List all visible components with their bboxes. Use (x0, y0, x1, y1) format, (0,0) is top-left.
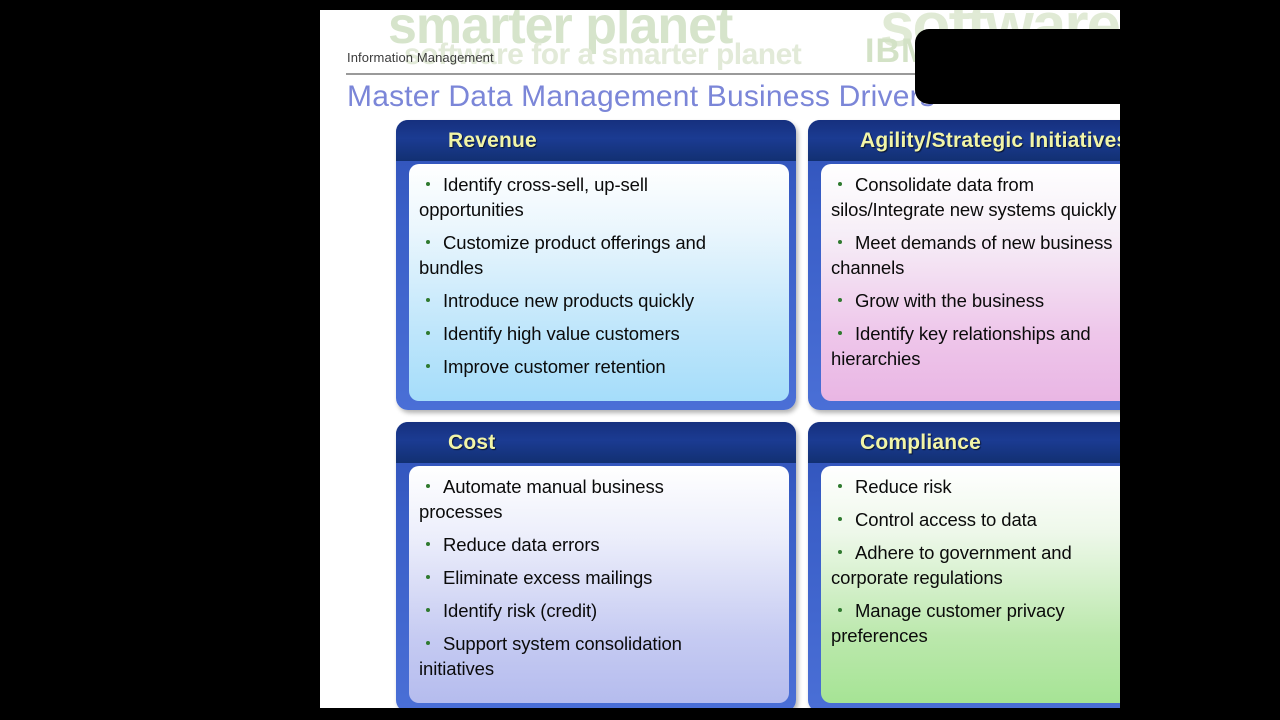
list-item: Automate manual businessprocesses (419, 474, 779, 524)
bullet-text: Identify risk (credit) (443, 600, 597, 621)
list-item: Reduce risk (831, 474, 1120, 499)
bullet-text: Identify cross-sell, up-sell (443, 174, 648, 195)
card-cost-body: Automate manual businessprocesses Reduce… (409, 466, 789, 703)
card-cost-header: Cost (396, 422, 796, 463)
card-compliance-title: Compliance (860, 431, 981, 455)
card-compliance-body: Reduce risk Control access to data Adher… (821, 466, 1120, 703)
list-item: Customize product offerings andbundles (419, 230, 779, 280)
list-item: Grow with the business (831, 288, 1120, 313)
bullet-text: Improve customer retention (443, 356, 666, 377)
card-cost-title: Cost (448, 431, 495, 455)
bullet-text-wrap: opportunities (419, 197, 779, 222)
list-item: Introduce new products quickly (419, 288, 779, 313)
card-revenue-header: Revenue (396, 120, 796, 161)
card-revenue-bullet-list: Identify cross-sell, up-sellopportunitie… (419, 172, 779, 379)
card-revenue-title: Revenue (448, 129, 537, 153)
list-item: Improve customer retention (419, 354, 779, 379)
bullet-text-wrap: corporate regulations (831, 565, 1120, 590)
presentation-slide: smarter planet software for a smarter pl… (320, 10, 1120, 708)
video-viewport: smarter planet software for a smarter pl… (0, 0, 1280, 720)
card-revenue: Revenue Identify cross-sell, up-selloppo… (396, 120, 796, 410)
bullet-text: Grow with the business (855, 290, 1044, 311)
card-revenue-body: Identify cross-sell, up-sellopportunitie… (409, 164, 789, 401)
bullet-text-wrap: channels (831, 255, 1120, 280)
bullet-text: Reduce risk (855, 476, 952, 497)
list-item: Consolidate data fromsilos/Integrate new… (831, 172, 1120, 222)
list-item: Adhere to government andcorporate regula… (831, 540, 1120, 590)
list-item: Meet demands of new businesschannels (831, 230, 1120, 280)
list-item: Control access to data (831, 507, 1120, 532)
bullet-text-wrap: initiatives (419, 656, 779, 681)
black-overlay-chip (915, 29, 1135, 104)
card-compliance-bullet-list: Reduce risk Control access to data Adher… (831, 474, 1120, 648)
bullet-text: Customize product offerings and (443, 232, 706, 253)
list-item: Identify risk (credit) (419, 598, 779, 623)
list-item: Identify cross-sell, up-sellopportunitie… (419, 172, 779, 222)
page-title: Master Data Management Business Drivers (347, 80, 935, 114)
list-item: Identify high value customers (419, 321, 779, 346)
card-agility-bullet-list: Consolidate data fromsilos/Integrate new… (831, 172, 1120, 371)
bullet-text-wrap: silos/Integrate new systems quickly (M&A… (831, 197, 1120, 222)
slide-kicker: Information Management (347, 50, 494, 65)
list-item: Identify key relationships andhierarchie… (831, 321, 1120, 371)
card-compliance: Compliance Reduce risk Control access to… (808, 422, 1120, 708)
bullet-text-wrap: preferences (831, 623, 1120, 648)
bullet-text: Eliminate excess mailings (443, 567, 652, 588)
list-item: Support system consolidationinitiatives (419, 631, 779, 681)
card-agility-title: Agility/Strategic Initiatives (860, 129, 1120, 153)
bullet-text: Meet demands of new business (855, 232, 1112, 253)
bullet-text: Control access to data (855, 509, 1037, 530)
bullet-text-wrap: hierarchies (831, 346, 1120, 371)
card-compliance-header: Compliance (808, 422, 1120, 463)
bullet-text: Introduce new products quickly (443, 290, 694, 311)
bullet-text: Support system consolidation (443, 633, 682, 654)
bullet-text-wrap: processes (419, 499, 779, 524)
card-agility-body: Consolidate data fromsilos/Integrate new… (821, 164, 1120, 401)
bullet-text: Automate manual business (443, 476, 664, 497)
list-item: Manage customer privacypreferences (831, 598, 1120, 648)
bullet-text: Adhere to government and (855, 542, 1072, 563)
bullet-text: Consolidate data from (855, 174, 1034, 195)
card-cost-bullet-list: Automate manual businessprocesses Reduce… (419, 474, 779, 681)
bullet-text: Reduce data errors (443, 534, 600, 555)
card-agility-header: Agility/Strategic Initiatives (808, 120, 1120, 161)
bullet-text-wrap: bundles (419, 255, 779, 280)
list-item: Eliminate excess mailings (419, 565, 779, 590)
card-cost: Cost Automate manual businessprocesses R… (396, 422, 796, 708)
bullet-text: Manage customer privacy (855, 600, 1065, 621)
list-item: Reduce data errors (419, 532, 779, 557)
card-agility: Agility/Strategic Initiatives Consolidat… (808, 120, 1120, 410)
bullet-text: Identify high value customers (443, 323, 680, 344)
bullet-text: Identify key relationships and (855, 323, 1091, 344)
